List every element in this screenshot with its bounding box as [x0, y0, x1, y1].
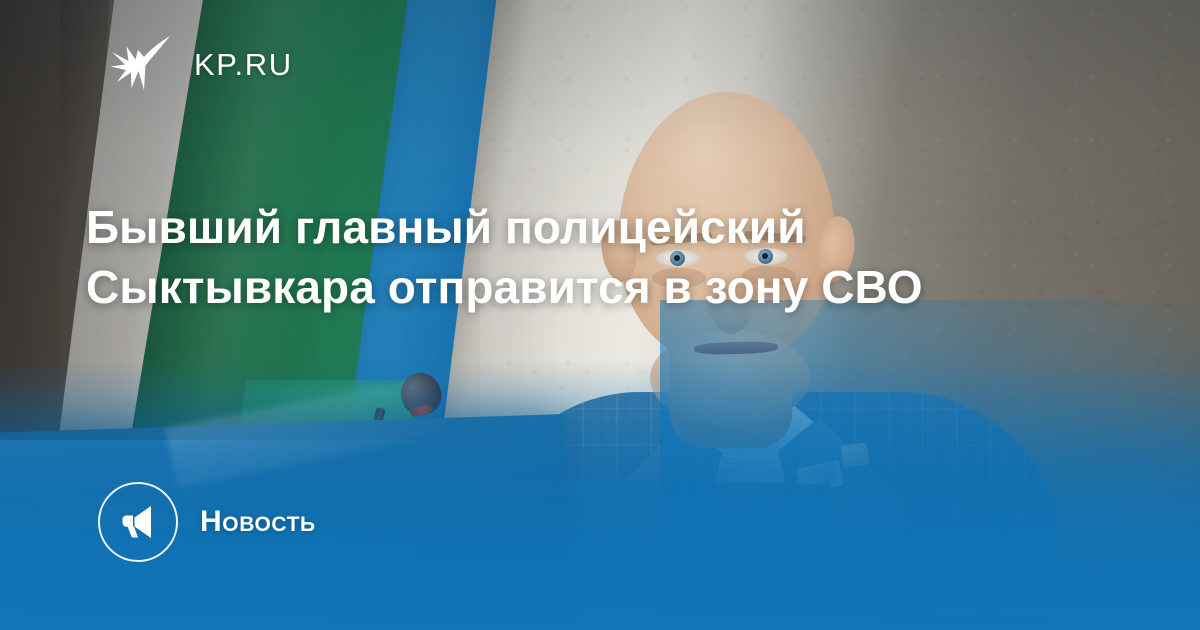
swallow-bird-icon — [108, 32, 172, 96]
brand-name: KP.RU — [194, 49, 293, 80]
status-badge[interactable]: Новость — [98, 482, 316, 562]
share-card: KP.RU Бывший главный полицейский Сыктывк… — [0, 0, 1200, 630]
megaphone-icon — [118, 502, 158, 542]
brand-logo[interactable]: KP.RU — [108, 32, 293, 96]
page-title: Бывший главный полицейский Сыктывкара от… — [86, 198, 1006, 318]
status-badge-label: Новость — [200, 507, 316, 537]
megaphone-icon-circle — [98, 482, 178, 562]
